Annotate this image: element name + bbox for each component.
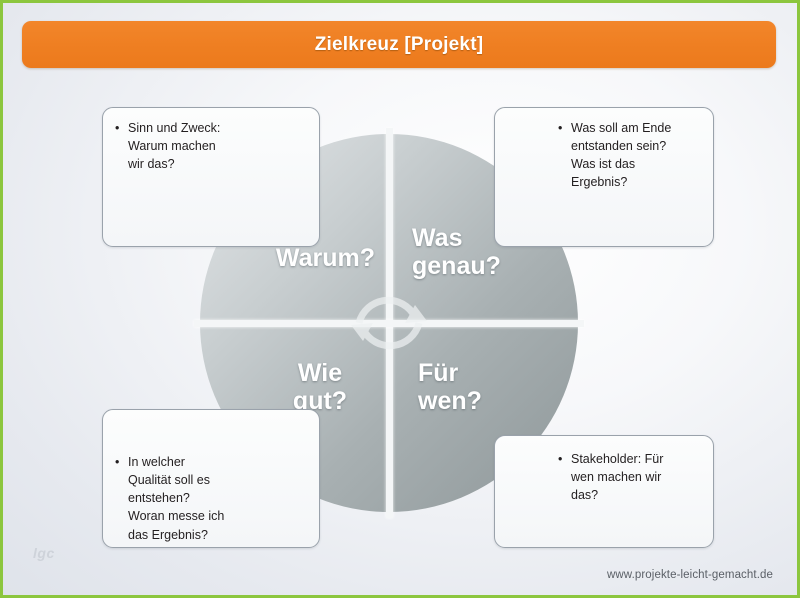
bullet-icon: • [558, 119, 562, 137]
callout-text-warum: Sinn und Zweck: Warum machen wir das? [128, 119, 313, 173]
callout-box-was-genau[interactable]: • Was soll am Ende entstanden sein? Was … [494, 107, 714, 247]
footer-url: www.projekte-leicht-gemacht.de [607, 569, 773, 581]
watermark-logo: lgc [33, 545, 55, 561]
cycle-arrows-icon [343, 277, 435, 369]
slide-canvas: Zielkreuz [Projekt] Warum? Was genau? [0, 0, 800, 598]
bullet-icon: • [558, 450, 562, 468]
slide-title-banner: Zielkreuz [Projekt] [22, 21, 776, 68]
bullet-icon: • [115, 119, 119, 137]
wheel-label-fuer-wen: Für wen? [418, 359, 538, 415]
callout-box-fuer-wen[interactable]: • Stakeholder: Für wen machen wir das? [494, 435, 714, 548]
callout-box-warum[interactable]: • Sinn und Zweck: Warum machen wir das? [102, 107, 320, 247]
callout-text-wie-gut: In welcher Qualität soll es entstehen? W… [128, 453, 313, 544]
callout-box-wie-gut[interactable]: • In welcher Qualität soll es entstehen?… [102, 409, 320, 548]
wheel-label-wie-gut: Wie gut? [260, 359, 380, 415]
callout-text-fuer-wen: Stakeholder: Für wen machen wir das? [571, 450, 713, 504]
wheel-label-warum: Warum? [255, 244, 375, 272]
page-title: Zielkreuz [Projekt] [315, 34, 484, 56]
callout-text-was-genau: Was soll am Ende entstanden sein? Was is… [571, 119, 711, 192]
bullet-icon: • [115, 453, 119, 471]
